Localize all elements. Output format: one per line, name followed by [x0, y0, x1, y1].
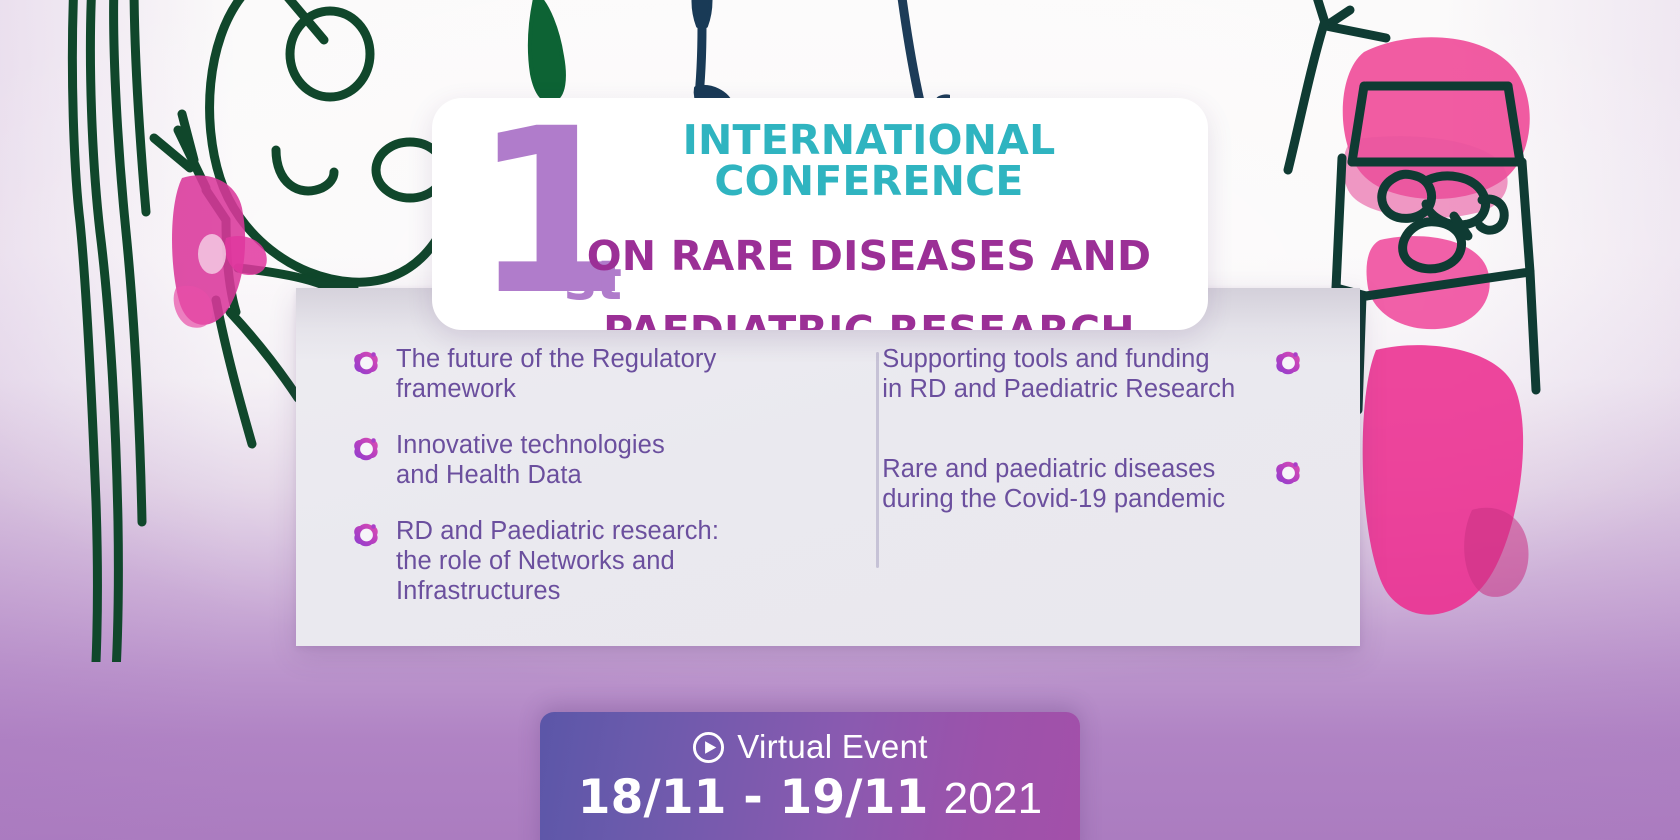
topics-card: The future of the Regulatory framework I…	[296, 288, 1360, 646]
topics-inner: The future of the Regulatory framework I…	[352, 344, 1304, 610]
topic-label: RD and Paediatric research: the role of …	[382, 516, 719, 606]
virtual-event-label: Virtual Event	[737, 728, 927, 766]
title-lines: INTERNATIONAL CONFERENCE ON RARE DISEASE…	[552, 120, 1186, 330]
date-year: 2021	[944, 774, 1043, 823]
flower-ring-icon	[352, 348, 382, 378]
play-circle-icon	[692, 731, 725, 764]
topic-item[interactable]: Supporting tools and funding in RD and P…	[882, 344, 1304, 404]
topic-label: Rare and paediatric diseases during the …	[882, 454, 1258, 514]
flower-ring-icon	[1274, 458, 1304, 488]
topics-right-column: Supporting tools and funding in RD and P…	[828, 344, 1304, 610]
topic-label: The future of the Regulatory framework	[382, 344, 716, 404]
topics-left-column: The future of the Regulatory framework I…	[352, 344, 828, 610]
flower-ring-icon	[352, 434, 382, 464]
topic-item[interactable]: RD and Paediatric research: the role of …	[352, 516, 802, 606]
flower-ring-icon	[1274, 348, 1304, 378]
topic-label: Innovative technologies and Health Data	[382, 430, 665, 490]
banner-stage: The future of the Regulatory framework I…	[0, 0, 1680, 840]
virtual-event-row: Virtual Event	[540, 712, 1080, 766]
topic-item[interactable]: The future of the Regulatory framework	[352, 344, 802, 404]
title-line-2: ON RARE DISEASES AND	[552, 236, 1186, 277]
date-row: 18/11 - 19/11 2021	[540, 770, 1080, 825]
flower-ring-icon	[352, 520, 382, 550]
title-line-3: PAEDIATRIC RESEARCH	[552, 311, 1186, 330]
topic-item[interactable]: Rare and paediatric diseases during the …	[882, 454, 1304, 514]
title-line-1: INTERNATIONAL CONFERENCE	[552, 120, 1186, 202]
date-range: 18/11 - 19/11	[578, 770, 929, 825]
date-banner: Virtual Event 18/11 - 19/11 2021	[540, 712, 1080, 840]
topic-item[interactable]: Innovative technologies and Health Data	[352, 430, 802, 490]
title-card: 1 st INTERNATIONAL CONFERENCE ON RARE DI…	[432, 98, 1208, 330]
topic-label: Supporting tools and funding in RD and P…	[882, 344, 1258, 404]
